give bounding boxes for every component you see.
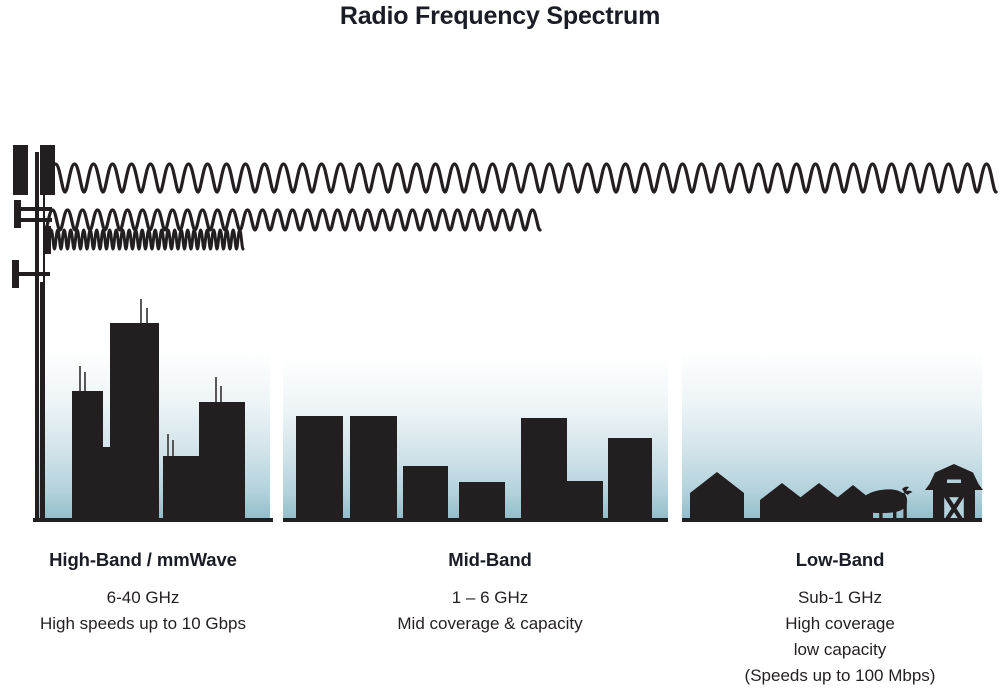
midband-building-6: [565, 481, 603, 521]
band-line-low-1: High coverage: [697, 611, 983, 637]
caption-low-band: Low-Band Sub-1 GHz High coverage low cap…: [697, 549, 983, 689]
ground-baseline-mid-band: [283, 518, 668, 522]
band-line-mid-1: Mid coverage & capacity: [347, 611, 633, 637]
band-line-low-3: (Speeds up to 100 Mbps): [697, 663, 983, 689]
midband-building-5: [521, 418, 567, 521]
band-line-mid-0: 1 – 6 GHz: [347, 585, 633, 611]
band-line-high-1: High speeds up to 10 Gbps: [0, 611, 286, 637]
cow-silhouette: [858, 484, 914, 522]
wave-high-band: [48, 224, 248, 256]
skyscraper-spire-7: [215, 377, 217, 405]
skyscraper-1: [72, 391, 103, 521]
midband-building-4: [459, 482, 505, 521]
band-line-high-0: 6-40 GHz: [0, 585, 286, 611]
wave-low-band: [46, 152, 1000, 202]
midband-building-3: [403, 466, 448, 521]
skyscraper-spire-3: [140, 299, 142, 326]
tower-antenna-panel-mid-right: [44, 226, 51, 254]
caption-mid-band: Mid-Band 1 – 6 GHz Mid coverage & capaci…: [347, 549, 633, 637]
tower-mast-foot: [40, 282, 44, 521]
band-heading-mid: Mid-Band: [347, 549, 633, 571]
skyscraper-2-base: [103, 447, 159, 521]
band-heading-high: High-Band / mmWave: [0, 549, 286, 571]
band-line-low-2: low capacity: [697, 637, 983, 663]
band-heading-low: Low-Band: [697, 549, 983, 571]
caption-high-band: High-Band / mmWave 6-40 GHz High speeds …: [0, 549, 286, 637]
tower-antenna-panel-top-left: [13, 145, 28, 195]
barn: [925, 464, 983, 522]
farm-house-1: [690, 472, 744, 522]
page-title: Radio Frequency Spectrum: [0, 2, 1000, 31]
tower-antenna-panel-low-left: [12, 260, 19, 288]
midband-building-1: [296, 416, 343, 521]
midband-building-2: [350, 416, 397, 521]
skyscraper-spire-5: [167, 434, 169, 458]
infographic-canvas: Radio Frequency Spectrum: [0, 0, 1000, 700]
skyscraper-4: [199, 402, 245, 521]
tower-antenna-panel-top-right: [40, 145, 55, 195]
ground-baseline-low-band: [682, 518, 982, 522]
band-line-low-0: Sub-1 GHz: [697, 585, 983, 611]
midband-building-7: [608, 438, 652, 521]
ground-baseline-high-band: [33, 518, 273, 522]
tower-antenna-panel-mid-left: [14, 200, 21, 228]
